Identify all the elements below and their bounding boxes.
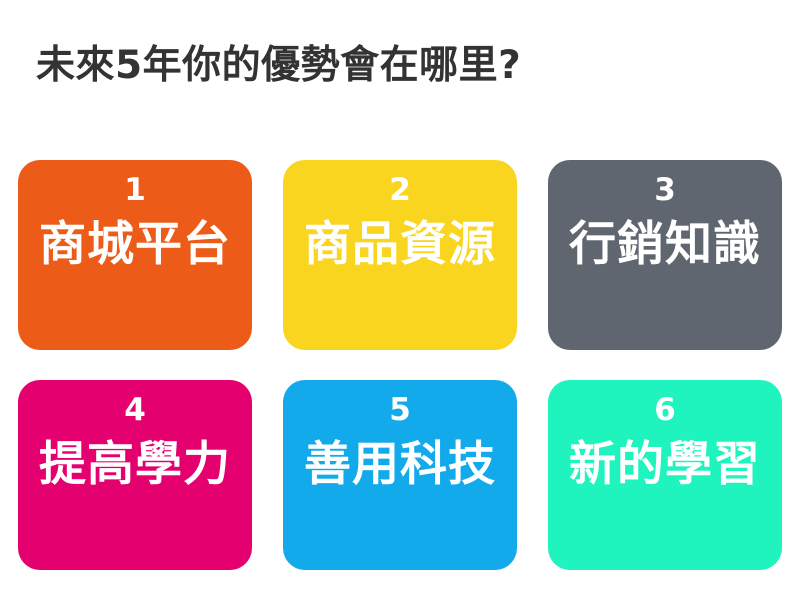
- card-label: 行銷知識: [569, 220, 761, 269]
- page-title: 未來5年你的優勢會在哪里?: [36, 44, 521, 89]
- card-label: 提高學力: [39, 440, 231, 489]
- card-label: 商品資源: [304, 220, 496, 269]
- card-item-2[interactable]: 2 商品資源: [283, 160, 517, 350]
- card-item-3[interactable]: 3 行銷知識: [548, 160, 782, 350]
- card-number: 2: [389, 175, 411, 206]
- card-number: 5: [389, 395, 411, 426]
- card-label: 新的學習: [569, 440, 761, 489]
- card-label: 善用科技: [304, 440, 496, 489]
- card-number: 1: [124, 175, 146, 206]
- card-number: 3: [654, 175, 676, 206]
- card-number: 6: [654, 395, 676, 426]
- card-item-1[interactable]: 1 商城平台: [18, 160, 252, 350]
- card-item-4[interactable]: 4 提高學力: [18, 380, 252, 570]
- card-number: 4: [124, 395, 146, 426]
- card-item-6[interactable]: 6 新的學習: [548, 380, 782, 570]
- card-label: 商城平台: [39, 220, 231, 269]
- card-grid: 1 商城平台 2 商品資源 3 行銷知識 4 提高學力 5 善用科技 6 新的學…: [18, 160, 782, 570]
- card-item-5[interactable]: 5 善用科技: [283, 380, 517, 570]
- slide-canvas: 未來5年你的優勢會在哪里? 1 商城平台 2 商品資源 3 行銷知識 4 提高學…: [0, 0, 800, 608]
